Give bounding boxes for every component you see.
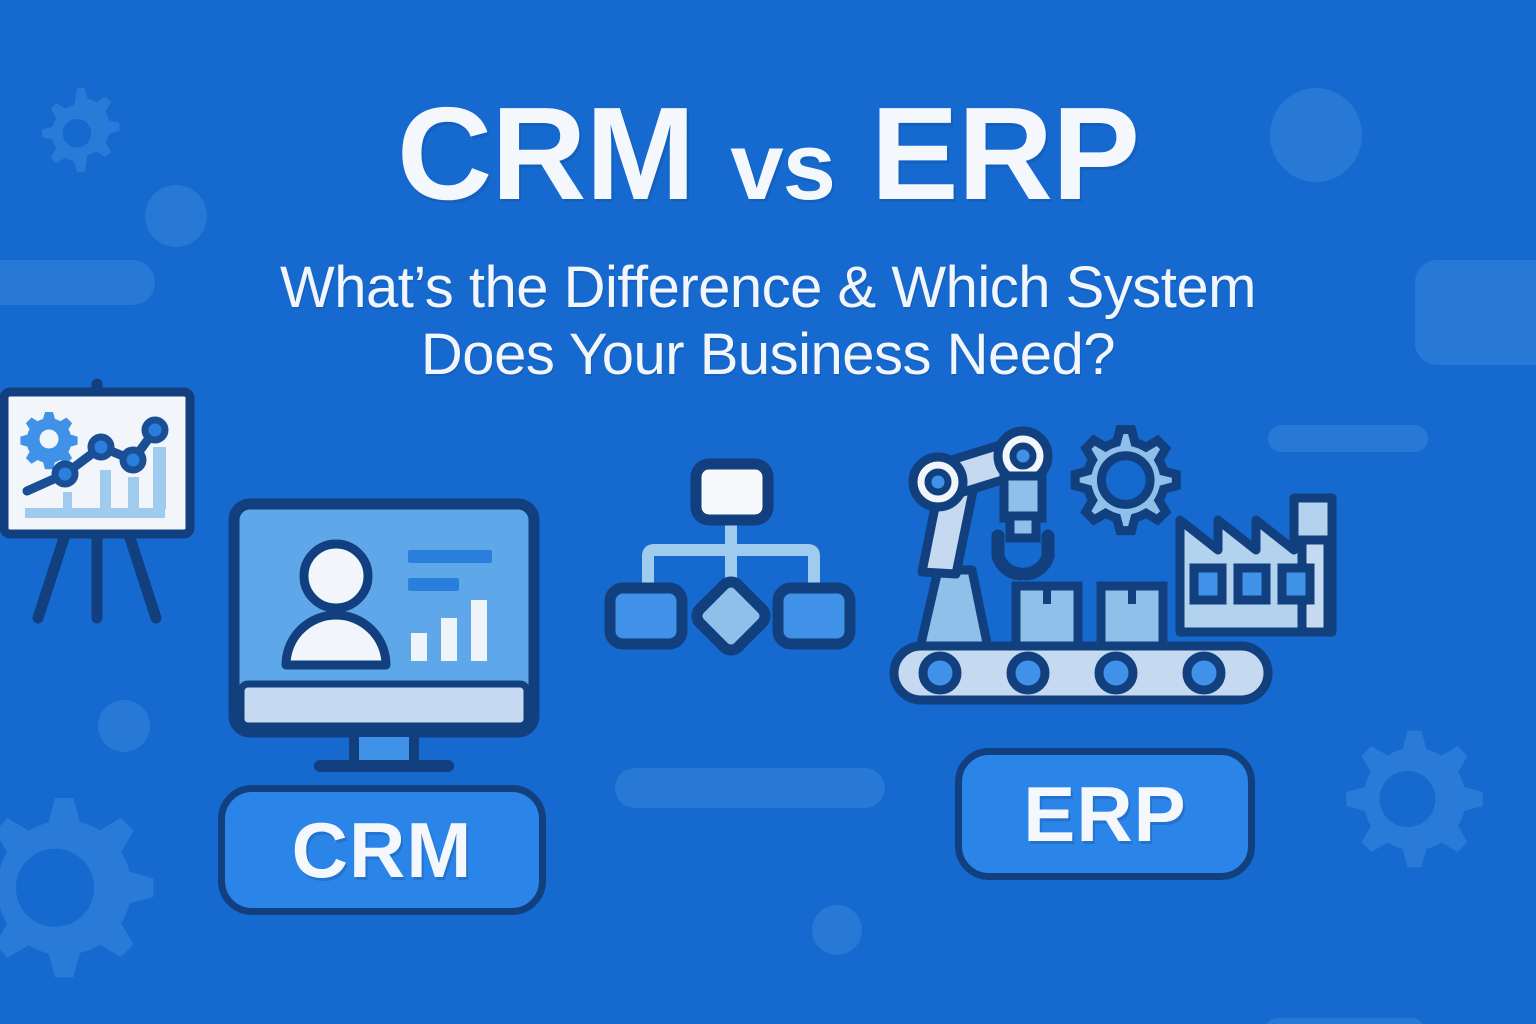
package-box-icon bbox=[1101, 586, 1163, 648]
conveyor-roller bbox=[1187, 656, 1221, 690]
page-title: CRM vs ERP bbox=[0, 88, 1536, 220]
gear-icon bbox=[1075, 430, 1176, 531]
poster-canvas: CRM vs ERP What’s the Difference & Which… bbox=[0, 0, 1536, 1024]
package-box-icon bbox=[1016, 586, 1078, 648]
gear-icon bbox=[0, 775, 170, 1005]
subtitle-line-1: What’s the Difference & Which System bbox=[280, 255, 1256, 320]
crm-monitor-icon bbox=[228, 498, 540, 783]
gear-icon bbox=[1320, 715, 1495, 890]
title-crm: CRM bbox=[397, 80, 695, 227]
factory-window bbox=[1282, 568, 1310, 600]
subtitle-line-2: Does Your Business Need? bbox=[0, 321, 1536, 388]
erp-factory-scene-icon bbox=[888, 420, 1388, 710]
hierarchy-node-diamond bbox=[693, 578, 769, 654]
conveyor-roller bbox=[1099, 656, 1133, 690]
erp-badge-label: ERP bbox=[1023, 769, 1186, 860]
factory-building-icon bbox=[1180, 498, 1332, 632]
erp-badge[interactable]: ERP bbox=[955, 748, 1255, 880]
hierarchy-node-top bbox=[696, 464, 768, 520]
decor-pill bbox=[1265, 1018, 1425, 1024]
hierarchy-node-left bbox=[610, 588, 682, 644]
conveyor-belt-icon bbox=[894, 646, 1268, 700]
headline-block: CRM vs ERP What’s the Difference & Which… bbox=[0, 88, 1536, 389]
title-vs: vs bbox=[730, 113, 835, 220]
title-erp: ERP bbox=[871, 80, 1139, 227]
gear-icon bbox=[20, 412, 77, 469]
crm-badge[interactable]: CRM bbox=[218, 785, 546, 915]
factory-window bbox=[1238, 568, 1266, 600]
factory-window bbox=[1194, 568, 1222, 600]
decor-circle bbox=[812, 905, 862, 955]
decor-pill bbox=[615, 768, 885, 808]
conveyor-roller bbox=[923, 656, 957, 690]
decor-circle bbox=[98, 700, 150, 752]
hierarchy-node-right bbox=[778, 588, 850, 644]
conveyor-roller bbox=[1011, 656, 1045, 690]
crm-badge-label: CRM bbox=[292, 805, 473, 896]
presentation-easel-chart-icon bbox=[0, 368, 203, 630]
org-hierarchy-diagram-icon bbox=[596, 458, 866, 663]
page-subtitle: What’s the Difference & Which System Doe… bbox=[0, 254, 1536, 389]
